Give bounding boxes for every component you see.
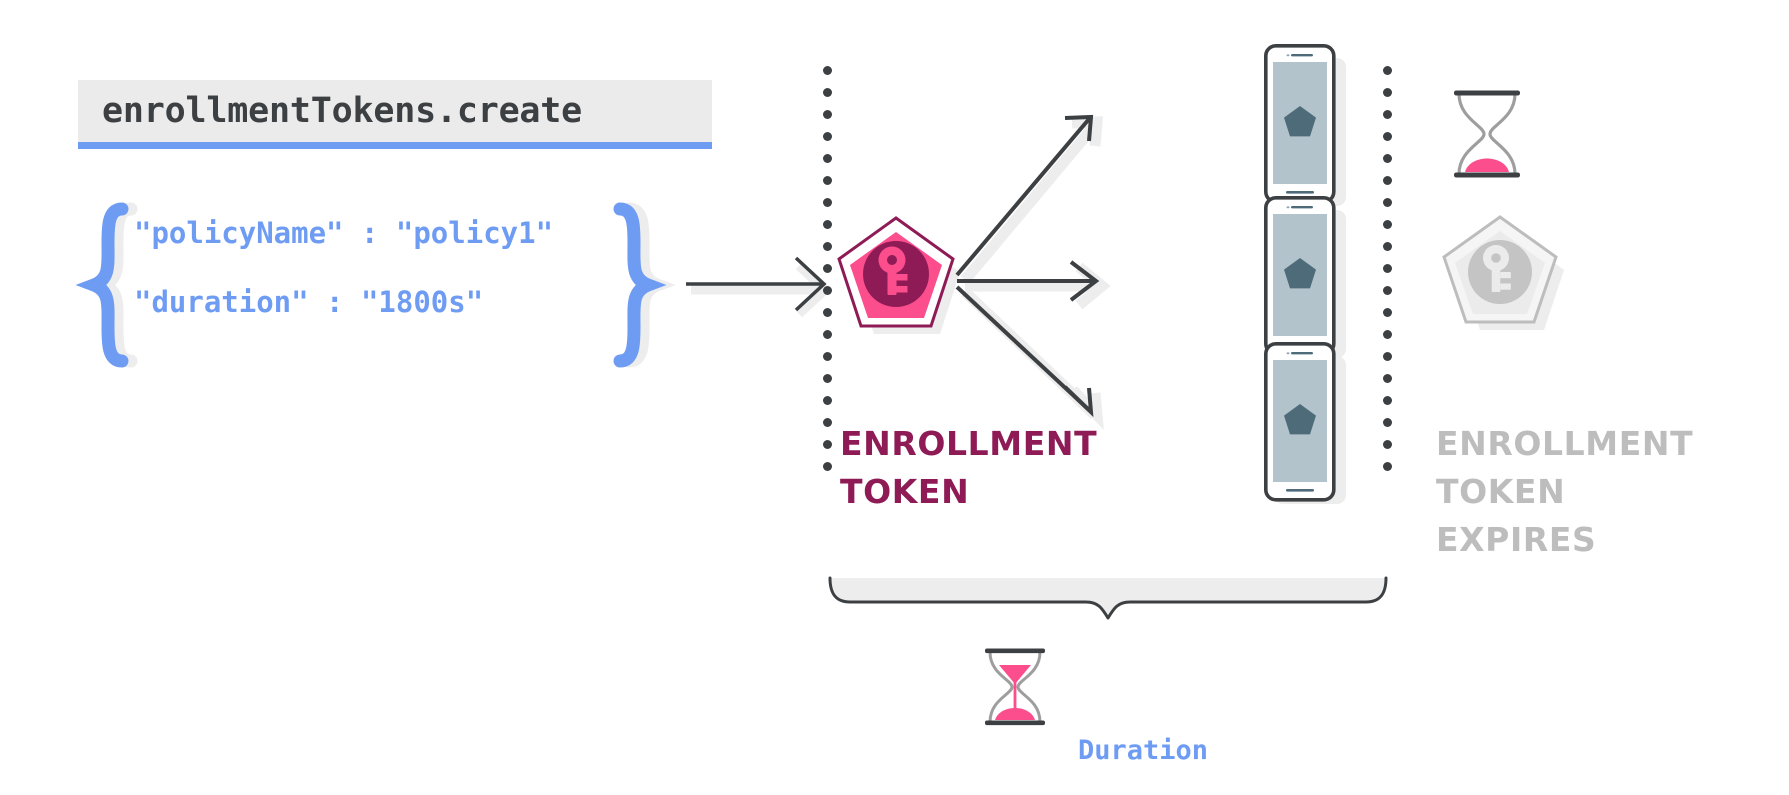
divider-dot xyxy=(823,264,832,273)
enrollment-token-expired-icon xyxy=(1438,212,1570,340)
divider-dot xyxy=(823,418,832,427)
duration-label: Duration 1800 seconds xyxy=(1078,660,1273,795)
divider-dot xyxy=(823,462,832,471)
divider-dot xyxy=(823,242,832,251)
json-line-duration: "duration" : "1800s" xyxy=(134,288,604,317)
divider-dotted-left xyxy=(823,66,832,484)
device-phone-2 xyxy=(1264,196,1346,358)
close-brace xyxy=(608,205,668,365)
device-phone-1 xyxy=(1264,44,1346,206)
duration-span-brace xyxy=(828,576,1388,622)
divider-dot xyxy=(1383,462,1392,471)
divider-dot xyxy=(1383,176,1392,185)
divider-dot xyxy=(823,374,832,383)
divider-dot xyxy=(1383,418,1392,427)
divider-dot xyxy=(1383,352,1392,361)
request-body-lines: "policyName" : "policy1" "duration" : "1… xyxy=(134,219,604,317)
divider-dot xyxy=(823,132,832,141)
divider-dot xyxy=(1383,132,1392,141)
divider-dot xyxy=(1383,198,1392,207)
divider-dot xyxy=(1383,330,1392,339)
request-flow-arrow xyxy=(686,250,846,330)
expires-label-line-3: EXPIRES xyxy=(1436,516,1756,564)
divider-dot xyxy=(823,330,832,339)
api-method-label: enrollmentTokens.create xyxy=(102,91,582,131)
enrollment-token-expires-label: ENROLLMENT TOKEN EXPIRES xyxy=(1436,420,1756,564)
divider-dot xyxy=(823,198,832,207)
divider-dot xyxy=(823,88,832,97)
token-distribution-arrows xyxy=(955,95,1255,475)
divider-dot xyxy=(1383,88,1392,97)
divider-dot xyxy=(1383,220,1392,229)
divider-dot xyxy=(1383,286,1392,295)
api-method-box: enrollmentTokens.create xyxy=(78,80,712,142)
request-body-block: "policyName" : "policy1" "duration" : "1… xyxy=(88,205,668,365)
divider-dot xyxy=(823,440,832,449)
enrollment-token-label-line-2: TOKEN xyxy=(840,468,1140,516)
divider-dot xyxy=(1383,110,1392,119)
divider-dot xyxy=(1383,154,1392,163)
divider-dot xyxy=(1383,66,1392,75)
hourglass-running-icon xyxy=(980,646,1050,728)
api-method-underline xyxy=(78,142,712,149)
divider-dot xyxy=(1383,264,1392,273)
divider-dot xyxy=(823,110,832,119)
duration-title: Duration xyxy=(1078,733,1273,769)
divider-dotted-right xyxy=(1383,66,1392,484)
divider-dot xyxy=(823,286,832,295)
expires-label-line-1: ENROLLMENT xyxy=(1436,420,1756,468)
device-phone-3 xyxy=(1264,342,1346,504)
divider-dot xyxy=(823,396,832,405)
divider-dot xyxy=(823,308,832,317)
enrollment-token-icon xyxy=(832,212,967,347)
divider-dot xyxy=(823,176,832,185)
json-line-policy-name: "policyName" : "policy1" xyxy=(134,219,604,248)
divider-dot xyxy=(1383,242,1392,251)
divider-dot xyxy=(1383,440,1392,449)
divider-dot xyxy=(823,66,832,75)
divider-dot xyxy=(823,352,832,361)
divider-dot xyxy=(1383,374,1392,383)
hourglass-expired-icon xyxy=(1448,88,1526,180)
divider-dot xyxy=(1383,308,1392,317)
expires-label-line-2: TOKEN xyxy=(1436,468,1756,516)
diagram-canvas: enrollmentTokens.create "policyName" : "… xyxy=(0,0,1789,795)
divider-dot xyxy=(823,154,832,163)
divider-dot xyxy=(1383,396,1392,405)
divider-dot xyxy=(823,220,832,229)
